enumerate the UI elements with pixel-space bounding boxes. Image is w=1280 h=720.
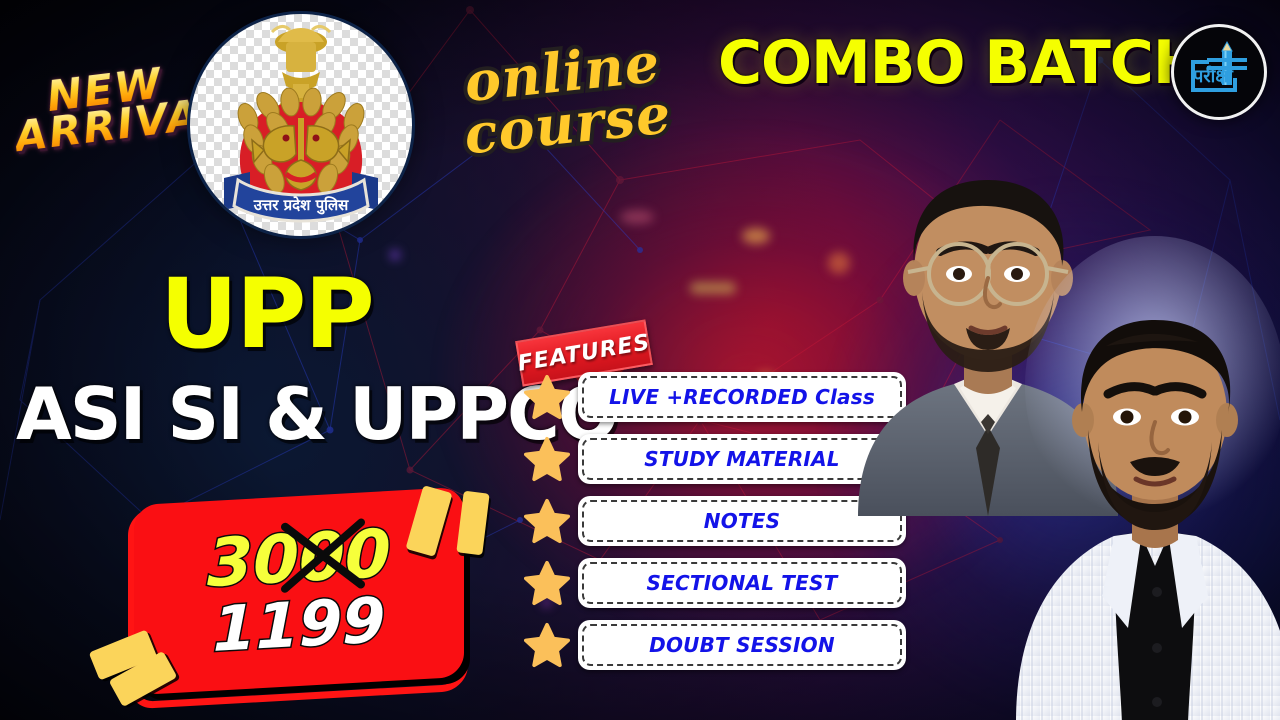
- pariksha-logo: परीक्षा: [1171, 24, 1267, 120]
- star-icon: [524, 374, 570, 420]
- promo-banner: NEW ARRIVAL: [0, 0, 1280, 720]
- feature-label: SECTIONAL TEST: [647, 571, 838, 595]
- combo-batch-label: COMBO BATCH: [718, 28, 1202, 98]
- feature-label: NOTES: [704, 509, 780, 533]
- list-item[interactable]: SECTIONAL TEST: [524, 558, 906, 608]
- page-title-primary: UPP: [160, 266, 373, 362]
- list-item[interactable]: DOUBT SESSION: [524, 620, 906, 670]
- feature-pill[interactable]: DOUBT SESSION: [578, 620, 906, 670]
- star-icon: [524, 622, 570, 668]
- price-original: 3000: [207, 521, 391, 597]
- star-icon: [524, 560, 570, 606]
- online-course-label: online course: [435, 35, 694, 162]
- star-icon: [524, 436, 570, 482]
- feature-label: DOUBT SESSION: [649, 633, 835, 657]
- instructor-two: [1010, 236, 1280, 720]
- feature-label: LIVE +RECORDED Class: [609, 385, 875, 409]
- up-police-emblem: उत्तर प्रदेश पुलिस: [190, 14, 412, 236]
- star-icon: [524, 498, 570, 544]
- emblem-banner-text: उत्तर प्रदेश पुलिस: [253, 196, 349, 215]
- feature-label: STUDY MATERIAL: [644, 447, 839, 471]
- feature-pill[interactable]: SECTIONAL TEST: [578, 558, 906, 608]
- pariksha-logo-mark: परीक्षा: [1179, 32, 1259, 112]
- pariksha-logo-text: परीक्षा: [1192, 65, 1234, 87]
